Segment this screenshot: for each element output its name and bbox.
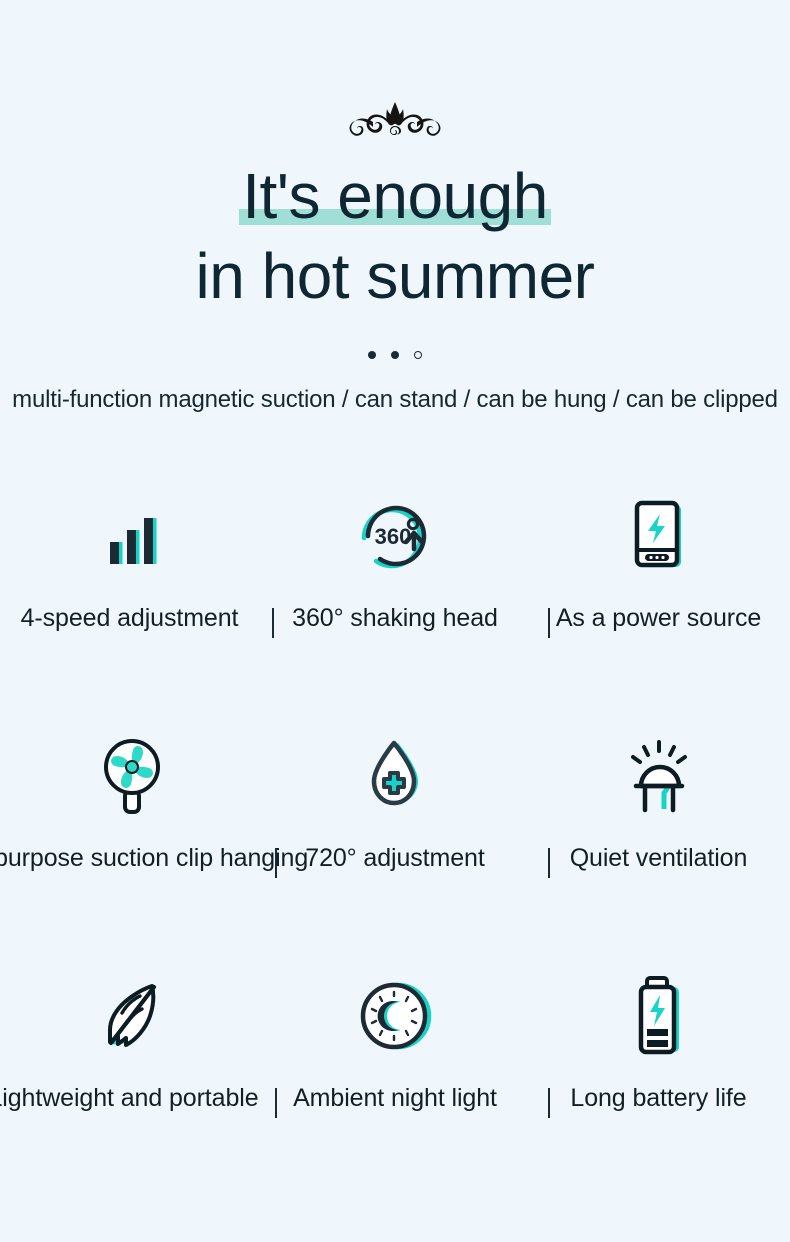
divider-dot-3 — [414, 351, 422, 359]
headline-line-2: in hot summer — [0, 244, 790, 308]
feature-item-as-a-power-source: As a power source — [527, 486, 790, 633]
feature-item-ambient-night-light: Ambient night light — [264, 966, 527, 1113]
feature-item-360-shaking-head: 360 360° shaking head — [264, 486, 527, 633]
dome-lamp-icon — [622, 726, 696, 826]
feature-label: Four-purpose suction clip hanging — [0, 844, 308, 873]
feature-item-720-adjustment: 720° adjustment — [264, 726, 527, 873]
divider-dot-2 — [391, 351, 399, 359]
feature-item-4-speed-adjustment: 4-speed adjustment — [0, 486, 263, 633]
feature-row: Four-purpose suction clip hanging 720° a… — [0, 726, 790, 966]
svg-text:360: 360 — [375, 524, 412, 549]
headline-line-1-text: It's enough — [242, 160, 548, 232]
feature-label: Ambient night light — [293, 1084, 497, 1113]
hero-tagline: multi-function magnetic suction / can st… — [0, 386, 790, 414]
feature-item-four-purpose-suction-clip-hanging: Four-purpose suction clip hanging — [0, 726, 263, 873]
feature-item-lightweight-and-portable: Lightweight and portable — [0, 966, 263, 1113]
battery-charge-icon — [631, 966, 687, 1066]
feather-icon — [92, 966, 172, 1066]
page-title: It's enough in hot summer — [0, 164, 790, 308]
dot-divider — [0, 350, 790, 360]
feature-label: As a power source — [556, 604, 761, 633]
product-feature-page: It's enough in hot summer multi-function… — [0, 0, 790, 1242]
feature-row: 4-speed adjustment 360 360° shaking head — [0, 486, 790, 726]
water-drop-plus-icon — [364, 726, 426, 826]
fan-icon — [97, 726, 167, 826]
feature-label: 360° shaking head — [292, 604, 498, 633]
feature-row: Lightweight and portable — [0, 966, 790, 1206]
signal-bars-icon — [100, 486, 164, 586]
feature-label: Long battery life — [570, 1084, 746, 1113]
feature-item-long-battery-life: Long battery life — [527, 966, 790, 1113]
feature-label: 4-speed adjustment — [21, 604, 239, 633]
hero-section: It's enough in hot summer multi-function… — [0, 0, 790, 414]
night-light-moon-icon — [357, 966, 433, 1066]
feature-label: 720° adjustment — [305, 844, 484, 873]
feature-label: Lightweight and portable — [0, 1084, 259, 1113]
headline-line-1: It's enough — [0, 164, 790, 228]
divider-dot-1 — [368, 351, 376, 359]
power-bank-icon — [631, 486, 687, 586]
flourish-ornament-icon — [0, 96, 790, 142]
feature-item-quiet-ventilation: Quiet ventilation — [527, 726, 790, 873]
rotation-360-icon: 360 — [356, 486, 434, 586]
feature-grid: 4-speed adjustment 360 360° shaking head — [0, 486, 790, 1206]
feature-label: Quiet ventilation — [570, 844, 748, 873]
